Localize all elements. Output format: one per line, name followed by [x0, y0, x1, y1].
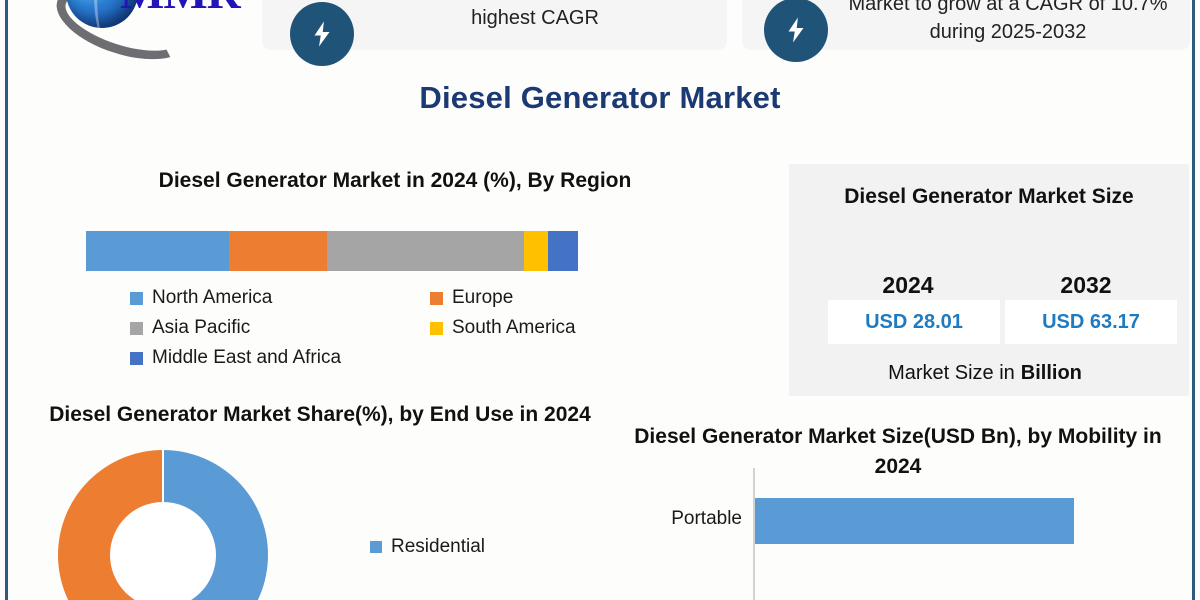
brand-logo-text: MMR [120, 0, 240, 20]
region-legend-item-south-america: South America [430, 317, 576, 339]
brand-logo: MMR [46, 0, 256, 40]
region-legend-row: Asia Pacific South America [130, 313, 670, 343]
mobility-bar-portable [755, 498, 1074, 544]
donut-hole [110, 502, 216, 600]
region-legend-label: Europe [452, 287, 513, 309]
region-segment-south-america [524, 231, 549, 271]
legend-swatch-icon [130, 322, 143, 335]
region-chart-title: Diesel Generator Market in 2024 (%), By … [60, 166, 730, 196]
end-use-chart-title: Diesel Generator Market Share(%), by End… [42, 400, 598, 430]
stat-card-middle-text: highest CAGR [370, 4, 700, 32]
market-size-unit-bold: Billion [1021, 362, 1082, 385]
region-legend-item-north-america: North America [130, 287, 430, 309]
legend-swatch-icon [430, 322, 443, 335]
market-size-year-2032: 2032 [1011, 272, 1161, 299]
legend-swatch-icon [370, 541, 382, 553]
region-segment-europe [229, 231, 327, 271]
market-size-year-2024: 2024 [833, 272, 983, 299]
infographic-canvas: MMR highest CAGR Market to grow at a CAG… [0, 0, 1200, 600]
donut-split-line [162, 450, 164, 504]
mobility-chart-title: Diesel Generator Market Size(USD Bn), by… [610, 422, 1186, 482]
legend-swatch-icon [130, 292, 143, 305]
end-use-legend-label: Residential [391, 536, 485, 558]
lightning-bolt-icon [290, 2, 354, 66]
legend-swatch-icon [430, 292, 443, 305]
end-use-donut-chart [58, 450, 268, 600]
region-legend-label: South America [452, 317, 576, 339]
end-use-legend-item-residential: Residential [370, 536, 485, 558]
region-legend-label: Asia Pacific [152, 317, 250, 339]
stat-card-middle: highest CAGR [262, 0, 727, 50]
region-legend-label: Middle East and Africa [152, 347, 341, 369]
market-size-heading: Diesel Generator Market Size [809, 182, 1169, 212]
region-legend-item-asia-pacific: Asia Pacific [130, 317, 430, 339]
region-legend-item-middle-east-africa: Middle East and Africa [130, 347, 430, 369]
stat-card-right: Market to grow at a CAGR of 10.7% during… [742, 0, 1190, 50]
mobility-category-label-portable: Portable [620, 508, 742, 530]
stat-card-right-text: Market to grow at a CAGR of 10.7% during… [838, 0, 1178, 46]
region-legend-row: Middle East and Africa [130, 343, 670, 373]
region-legend-item-europe: Europe [430, 287, 513, 309]
legend-swatch-icon [130, 352, 143, 365]
market-size-unit-prefix: Market Size in [888, 362, 1015, 385]
region-segment-middle-east-africa [548, 231, 578, 271]
region-legend-label: North America [152, 287, 272, 309]
region-legend: North America Europe Asia Pacific South … [130, 283, 670, 373]
region-segment-north-america [86, 231, 229, 271]
page-title: Diesel Generator Market [0, 80, 1200, 116]
region-stacked-bar [86, 231, 578, 271]
lightning-bolt-icon [764, 0, 828, 62]
market-size-unit: Market Size in Billion [827, 350, 1143, 396]
market-size-value-2024: USD 28.01 [828, 300, 1000, 344]
region-segment-asia-pacific [327, 231, 524, 271]
region-legend-row: North America Europe [130, 283, 670, 313]
market-size-panel: Diesel Generator Market Size 2024 2032 U… [789, 164, 1189, 396]
market-size-value-2032: USD 63.17 [1005, 300, 1177, 344]
